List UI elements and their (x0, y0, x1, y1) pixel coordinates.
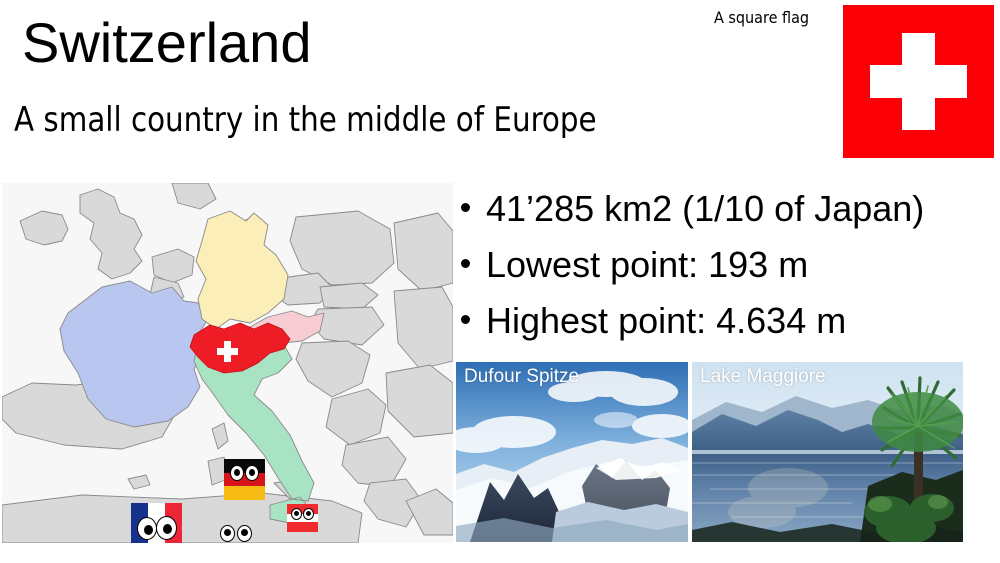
googly-pupil-left (294, 511, 299, 516)
googly-pupil-right (241, 529, 248, 536)
list-item: 41’285 km2 (1/10 of Japan) (458, 185, 1000, 241)
list-item-label: 41’285 km2 (1/10 of Japan) (486, 185, 924, 233)
flag-caption: A square flag (714, 8, 809, 28)
germany-flag-face-icon (224, 459, 265, 500)
photo-lake-maggiore: Lake Maggiore (692, 362, 963, 542)
facts-list: 41’285 km2 (1/10 of Japan) Lowest point:… (458, 185, 1000, 353)
austria-flag-red-band-bottom (287, 522, 318, 532)
googly-pupil-right (306, 511, 311, 516)
bullet-dot-icon (461, 315, 470, 324)
googly-pupil-right (163, 524, 172, 534)
list-item-label: Highest point: 4.634 m (486, 297, 846, 345)
photo-caption: Lake Maggiore (700, 365, 826, 389)
bullet-dot-icon (461, 259, 470, 268)
swiss-flag-icon (843, 5, 994, 158)
europe-map (2, 183, 453, 543)
slide-canvas: Switzerland A small country in the middl… (0, 0, 1000, 563)
googly-pupil-right (249, 469, 255, 476)
germany-flag-gold-band (224, 486, 265, 500)
page-subtitle: A small country in the middle of Europe (14, 100, 597, 140)
photo-caption: Dufour Spitze (464, 365, 579, 389)
austria-flag-face-icon (287, 504, 318, 532)
photo-dufour-spitze-image (456, 362, 688, 542)
page-title: Switzerland (22, 12, 311, 74)
googly-pupil-left (234, 469, 240, 476)
list-item-label: Lowest point: 193 m (486, 241, 808, 289)
bullet-dot-icon (461, 203, 470, 212)
photo-dufour-spitze: Dufour Spitze (456, 362, 688, 542)
flag-cross-vertical (902, 33, 935, 130)
switzerland-face-icon (220, 525, 256, 542)
france-flag-face-icon (131, 503, 182, 543)
googly-pupil-left (144, 525, 153, 535)
list-item: Lowest point: 193 m (458, 241, 1000, 297)
photo-lake-maggiore-image (692, 362, 963, 542)
googly-pupil-left (224, 529, 231, 536)
list-item: Highest point: 4.634 m (458, 297, 1000, 353)
